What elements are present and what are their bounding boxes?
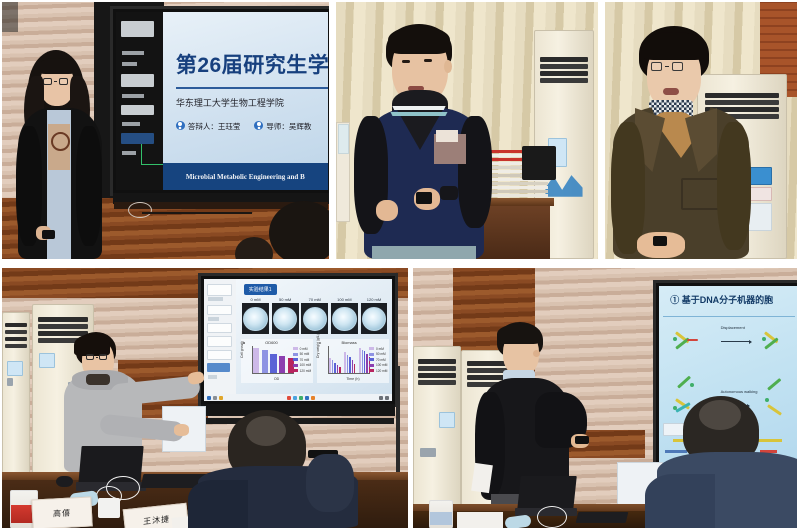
legend-swatch	[369, 353, 374, 356]
clicker	[416, 192, 432, 204]
sleeve-right	[717, 122, 751, 250]
neck-collar	[86, 374, 110, 385]
legend-label: 120 mM	[300, 369, 312, 373]
bar	[364, 351, 365, 373]
legend-item: 50 mM	[369, 352, 388, 356]
y-axis-label: Cell growth	[240, 341, 244, 358]
powerpoint-sidebar	[204, 279, 236, 401]
vent-grill	[5, 323, 27, 327]
photo-collage: 第26届研究生学 华东理工大学生物工程学院 答辩人：王珏莹 导师：吴辉教 Mic…	[0, 0, 799, 530]
slide-divider	[176, 87, 328, 89]
display-screen: 第26届研究生学 华东理工大学生物工程学院 答辩人：王珏莹 导师：吴辉教 Mic…	[116, 12, 328, 190]
hair-sweep	[641, 32, 707, 60]
sleeve-left	[611, 122, 645, 254]
presentation-display[interactable]: 实验结果1 0 mM 50 mM 70 mM	[198, 273, 398, 407]
control-plate	[420, 448, 437, 457]
legend-swatch	[293, 364, 298, 367]
right-arm	[76, 126, 102, 246]
audience-head-silhouette	[269, 201, 329, 259]
search-icon[interactable]	[213, 396, 217, 400]
trousers	[372, 246, 476, 259]
sticker	[39, 353, 55, 368]
legend-label: 70 mM	[376, 358, 386, 362]
start-icon[interactable]	[207, 396, 211, 400]
legend-item: 0 mM	[369, 347, 388, 351]
name-placard-1: 高僖	[31, 496, 92, 528]
dna-structure-2	[765, 329, 795, 353]
app-icon[interactable]	[305, 396, 309, 400]
photo-3[interactable]	[605, 2, 797, 259]
bar	[334, 363, 335, 373]
legend-swatch	[293, 353, 298, 356]
legend-label: 0 mM	[376, 347, 384, 351]
lower-hand	[174, 424, 189, 436]
hand-left	[376, 200, 398, 221]
coffee-cup	[429, 500, 453, 528]
dish-label: 50 mM	[279, 297, 291, 302]
dish-label: 70 mM	[309, 297, 321, 302]
eye-left	[402, 60, 410, 63]
petri-dish-row: 0 mM 50 mM 70 mM 100 mM	[242, 297, 387, 334]
dish-item: 0 mM	[242, 297, 269, 334]
plot-area	[252, 346, 294, 374]
bar	[344, 352, 345, 373]
petri-dish	[301, 303, 328, 334]
legend-swatch	[293, 347, 298, 350]
shoulder	[645, 474, 715, 528]
document-sheet	[457, 512, 503, 528]
slide-divider	[663, 316, 795, 317]
display-screen: 实验结果1 0 mM 50 mM 70 mM	[204, 279, 392, 401]
slide-footer: Microbial Metabolic Engineering and B	[163, 163, 328, 190]
bar	[270, 354, 276, 372]
bar	[349, 357, 350, 373]
bar	[262, 350, 268, 372]
legend-label: 50 mM	[376, 352, 386, 356]
bar	[332, 360, 333, 372]
petri-dish	[272, 303, 299, 334]
dish-item: 50 mM	[272, 297, 299, 334]
monitor-back	[522, 146, 556, 180]
hair-fringe	[38, 58, 76, 74]
app-icon[interactable]	[287, 396, 291, 400]
control-plate	[7, 378, 14, 386]
hair-top	[497, 324, 541, 344]
vent-grill	[418, 359, 457, 364]
windows-taskbar[interactable]	[204, 394, 392, 401]
wall-shadow-left	[2, 2, 18, 32]
laptop-lid	[517, 476, 577, 510]
dish-item: 100 mM	[331, 297, 358, 334]
process-label-1: Displacement	[721, 325, 745, 330]
bar	[253, 348, 259, 373]
photo-5[interactable]: ① 基于DNA分子机器的胞 Displacement	[413, 268, 797, 528]
sticker	[439, 412, 455, 428]
presenter-label: 答辩人：王珏莹	[188, 122, 241, 131]
sleeve-right	[458, 116, 492, 228]
app-icon[interactable]	[311, 396, 315, 400]
legend-swatch	[369, 369, 374, 372]
legend-item: 120 mM	[293, 369, 312, 373]
chart-panel-c: c Biomass Dry weight (g/L) 0 mM50 mM70 m…	[317, 339, 389, 383]
slide-title: 第26届研究生学	[176, 49, 328, 79]
legend-label: 0 mM	[300, 347, 308, 351]
raised-arm	[306, 454, 354, 512]
legend-swatch	[369, 364, 374, 367]
bar	[329, 358, 330, 373]
slide-title: ① 基于DNA分子机器的胞	[670, 293, 796, 306]
cable-loop	[128, 202, 152, 218]
placard-name: 高僖	[53, 507, 72, 519]
petri-dish	[331, 303, 358, 334]
slide-people-row: 答辩人：王珏莹 导师：吴辉教	[176, 121, 312, 132]
legend-item: 70 mM	[369, 358, 388, 362]
legend-item: 100 mM	[369, 363, 388, 367]
chart-panel-b: b OD600 Cell growth 0 mM50 mM70 mM100 mM…	[241, 339, 313, 383]
dish-label: 0 mM	[251, 297, 261, 302]
person-icon	[254, 121, 263, 130]
x-axis-label: Time (h)	[317, 377, 389, 381]
y-axis-label: Dry weight (g/L)	[316, 334, 320, 358]
legend-swatch	[293, 369, 298, 372]
cup-band	[430, 512, 452, 525]
legend-label: 120 mM	[376, 369, 388, 373]
app-icon[interactable]	[293, 396, 297, 400]
vent-grill	[38, 317, 88, 322]
tray-icon[interactable]	[385, 396, 389, 400]
legend-item: 120 mM	[369, 369, 388, 373]
examiner-photo-5	[665, 396, 797, 528]
power-adapter	[98, 498, 120, 518]
bar	[352, 360, 353, 372]
legend-swatch	[369, 347, 374, 350]
presenter-photo-1	[12, 50, 108, 259]
legend-item: 70 mM	[293, 358, 312, 362]
photo-4[interactable]: 实验结果1 0 mM 50 mM 70 mM	[2, 268, 408, 528]
plot-area	[328, 346, 370, 374]
photo-1[interactable]: 第26届研究生学 华东理工大学生物工程学院 答辩人：王珏莹 导师：吴辉教 Mic…	[2, 2, 329, 259]
results-slide: 实验结果1 0 mM 50 mM 70 mM	[236, 279, 392, 394]
mouth	[663, 88, 679, 95]
photo-2[interactable]	[336, 2, 598, 259]
bar	[337, 365, 338, 373]
ear	[444, 60, 452, 73]
legend-item: 100 mM	[293, 363, 312, 367]
cable-run	[142, 212, 252, 214]
chart-title: OD600	[265, 340, 278, 345]
dish-item: 70 mM	[301, 297, 328, 334]
process-label-2: Autonomous walking	[721, 389, 758, 394]
legend-swatch	[293, 358, 298, 361]
vent-grill	[540, 57, 589, 62]
shoulder-left	[188, 480, 248, 528]
bar	[362, 350, 363, 373]
arrow-icon	[721, 341, 752, 342]
air-conditioner-left[interactable]	[2, 312, 30, 484]
nose	[533, 350, 540, 357]
charging-cable	[537, 506, 567, 528]
paper-in-hand	[471, 463, 493, 493]
presenter-photo-3	[607, 26, 755, 259]
dna-structure-1	[676, 329, 706, 353]
tray-icon[interactable]	[379, 396, 383, 400]
clicker	[653, 236, 667, 246]
legend-label: 100 mM	[376, 363, 388, 367]
bar-group	[329, 346, 340, 373]
bar	[354, 364, 355, 373]
person-icon	[176, 121, 185, 130]
eye-right	[424, 59, 432, 62]
legend-item: 0 mM	[293, 347, 312, 351]
glasses-icon	[651, 62, 683, 71]
legend-item: 50 mM	[293, 352, 312, 356]
bar	[279, 356, 285, 373]
sticker	[7, 361, 23, 377]
legend-label: 70 mM	[300, 358, 310, 362]
bar	[359, 348, 360, 373]
dish-label: 100 mM	[337, 297, 351, 302]
advisor-entry: 导师：吴辉教	[254, 121, 311, 132]
examiner-photo-4	[198, 410, 358, 528]
explorer-icon[interactable]	[219, 396, 223, 400]
glasses-icon	[43, 78, 68, 85]
petri-dish	[361, 303, 388, 334]
app-icon[interactable]	[299, 396, 303, 400]
keyboard[interactable]	[576, 512, 629, 523]
charts-row: b OD600 Cell growth 0 mM50 mM70 mM100 mM…	[241, 339, 389, 383]
presentation-display[interactable]: 第26届研究生学 华东理工大学生物工程学院 答辩人：王珏莹 导师：吴辉教 Mic…	[110, 6, 329, 196]
bar	[366, 354, 367, 373]
legend-label: 100 mM	[300, 363, 312, 367]
mouse[interactable]	[56, 476, 73, 487]
legend-label: 50 mM	[300, 352, 310, 356]
legend-swatch	[369, 358, 374, 361]
hair-highlight	[699, 400, 741, 430]
advisor-label: 导师：吴辉教	[266, 122, 311, 131]
presenter-entry: 答辩人：王珏莹	[176, 121, 241, 132]
shirt-graphic-circle-2	[51, 132, 70, 151]
presenter-photo-2	[348, 24, 508, 259]
title-slide: 第26届研究生学 华东理工大学生物工程学院 答辩人：王珏莹 导师：吴辉教 Mic…	[163, 12, 328, 190]
bar	[347, 355, 348, 373]
chart-title: Biomass	[341, 340, 356, 345]
slide-subtitle: 华东理工大学生物工程学院	[176, 96, 284, 109]
dish-item: 120 mM	[361, 297, 388, 334]
wristwatch	[440, 186, 458, 200]
hair-highlight	[246, 416, 286, 446]
slide-section-chip: 实验结果1	[244, 284, 277, 295]
x-axis-label: OD	[241, 377, 313, 381]
petri-dish	[242, 303, 269, 334]
face-mask	[504, 514, 531, 528]
chart-legend: 0 mM50 mM70 mM100 mM120 mM	[293, 347, 312, 373]
hair-top	[388, 26, 450, 54]
bar-group	[344, 346, 355, 373]
pocket-paper	[436, 130, 458, 142]
hair-bun	[74, 334, 110, 356]
clicker	[42, 230, 55, 239]
bar	[339, 367, 340, 373]
annotation-mark	[141, 144, 164, 165]
chart-legend: 0 mM50 mM70 mM100 mM120 mM	[369, 347, 388, 373]
placard-name: 王沐捷	[143, 513, 170, 527]
dish-label: 120 mM	[367, 297, 381, 302]
clicker	[575, 436, 589, 444]
glasses-icon	[86, 354, 107, 360]
